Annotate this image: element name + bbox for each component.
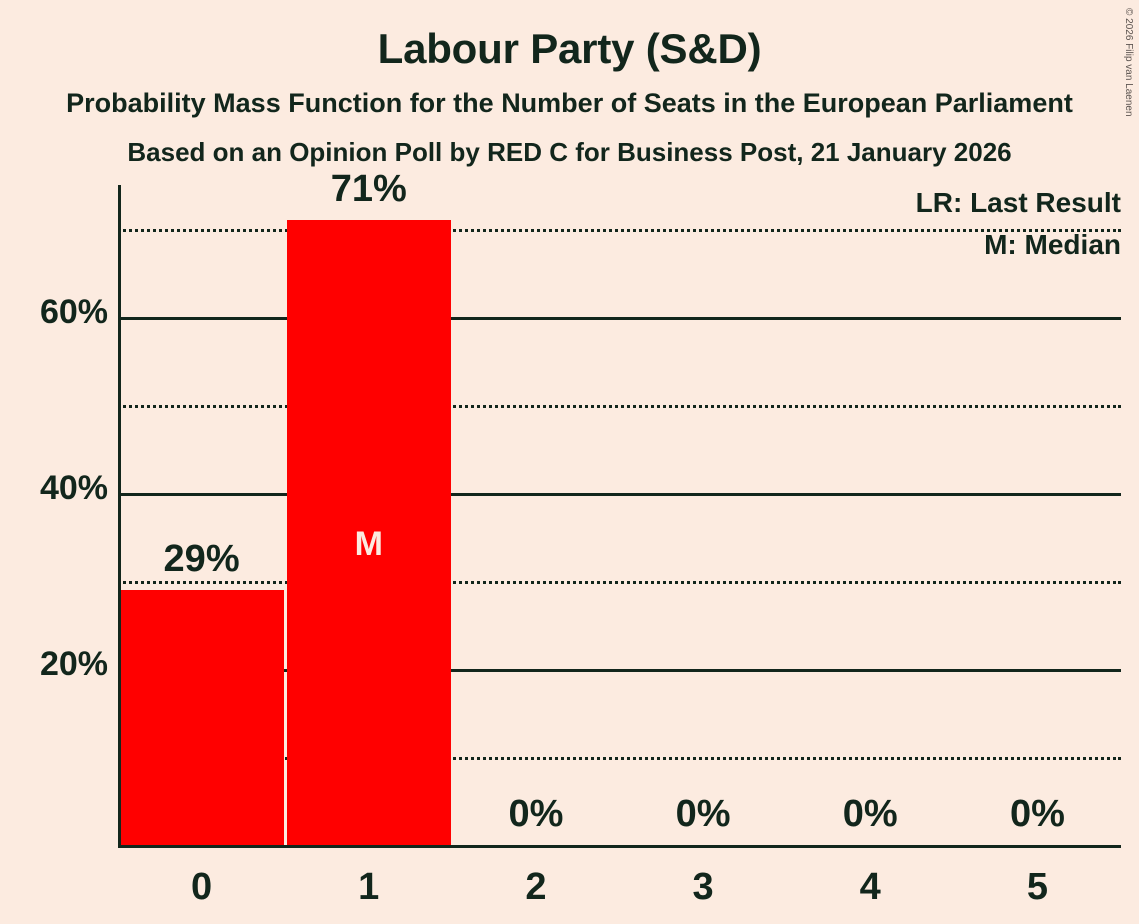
x-tick-label-0: 0 [120, 866, 284, 909]
y-tick-label-20%: 20% [40, 645, 108, 684]
gridline-solid-60 [118, 317, 1121, 320]
chart-source-note: Based on an Opinion Poll by RED C for Bu… [0, 137, 1139, 168]
page-title: Labour Party (S&D) [0, 25, 1139, 73]
y-axis-tick-labels: 20%40%60% [0, 0, 108, 924]
chart-canvas: Labour Party (S&D) Probability Mass Func… [0, 0, 1139, 924]
gridline-solid-40 [118, 493, 1121, 496]
bar-value-label-4: 0% [788, 793, 952, 836]
x-tick-label-5: 5 [955, 866, 1119, 909]
gridline-dotted-70 [118, 229, 1121, 232]
copyright-notice: © 2026 Filip van Laenen [1123, 8, 1134, 117]
x-tick-label-1: 1 [287, 866, 451, 909]
gridline-dotted-50 [118, 405, 1121, 408]
y-tick-label-60%: 60% [40, 293, 108, 332]
bar-seats-1[interactable]: M [287, 220, 451, 845]
gridline-dotted-30 [118, 581, 1121, 584]
y-tick-label-40%: 40% [40, 469, 108, 508]
x-tick-label-4: 4 [788, 866, 952, 909]
bar-value-label-1: 71% [287, 168, 451, 211]
bar-value-label-5: 0% [955, 793, 1119, 836]
bar-value-label-3: 0% [621, 793, 785, 836]
bar-value-label-0: 29% [120, 538, 284, 581]
chart-subtitle: Probability Mass Function for the Number… [0, 88, 1139, 119]
y-axis-line [118, 185, 121, 848]
plot-area: LR29%M71%0%0%0%0% [118, 185, 1121, 848]
x-axis-line [118, 845, 1121, 848]
bar-seats-0[interactable]: LR [120, 590, 284, 845]
x-tick-label-3: 3 [621, 866, 785, 909]
bar-value-label-2: 0% [454, 793, 618, 836]
bar-marker-m: M [287, 525, 451, 564]
x-tick-label-2: 2 [454, 866, 618, 909]
